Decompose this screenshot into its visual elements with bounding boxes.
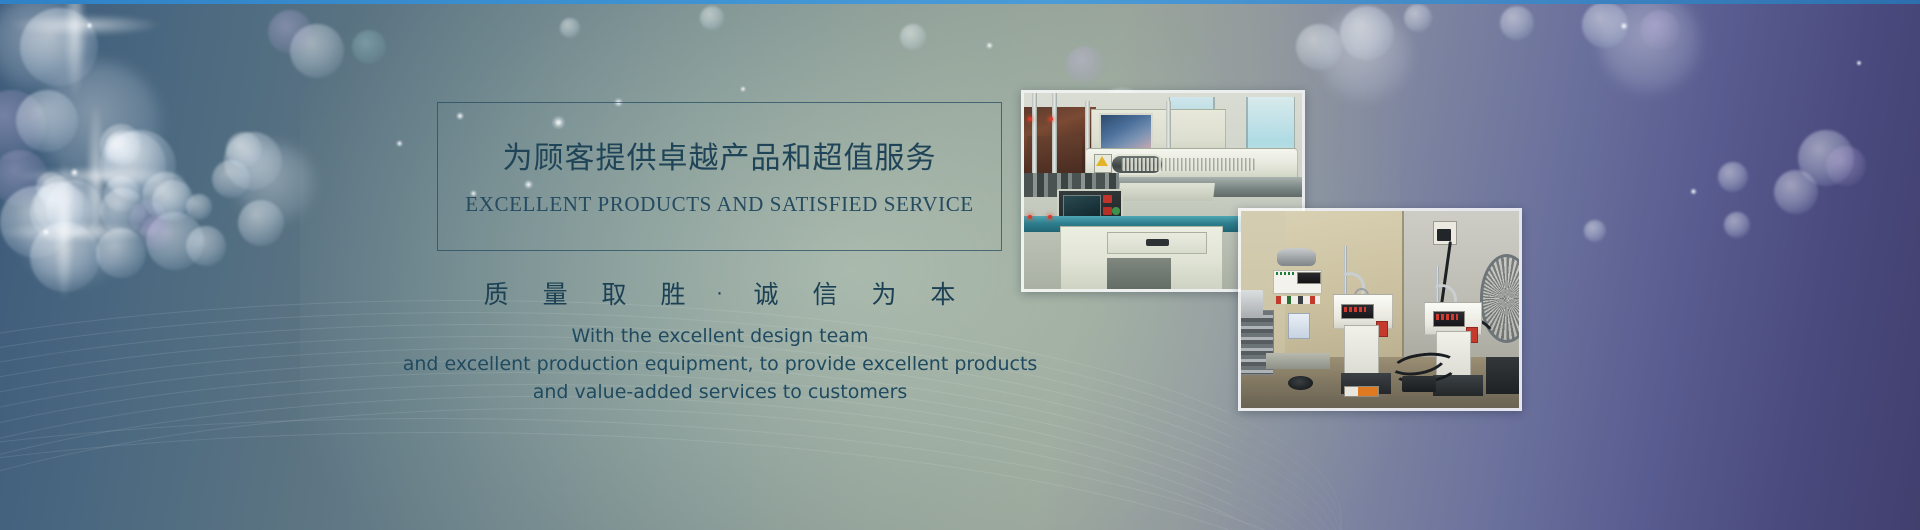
headline-english: EXCELLENT PRODUCTS AND SATISFIED SERVICE [437,192,1002,217]
riveting-machines-photo[interactable] [1238,208,1522,411]
slogan-char: 量 [543,280,568,309]
promo-banner: 为顾客提供卓越产品和超值服务 EXCELLENT PRODUCTS AND SA… [0,0,1920,530]
slogan-char: 为 [871,280,896,309]
description-line-3: and value-added services to customers [340,378,1100,406]
slogan-separator: · [716,283,722,305]
slogan-char: 信 [812,280,837,309]
description-line-1: With the excellent design team [340,322,1100,350]
slogan-char: 质 [484,280,509,309]
slogan-char: 本 [930,280,955,309]
slogan-char: 胜 [661,280,686,309]
banner-text-block: 为顾客提供卓越产品和超值服务 EXCELLENT PRODUCTS AND SA… [0,0,1920,530]
slogan-char: 诚 [753,280,778,309]
slogan-char: 取 [602,280,627,309]
slogan-chinese: 质 量 取 胜 · 诚 信 为 本 [437,275,1002,311]
description-paragraph: With the excellent design team and excel… [340,322,1100,406]
top-accent-bar [0,0,1920,4]
headline-chinese: 为顾客提供卓越产品和超值服务 [437,133,1002,177]
description-line-2: and excellent production equipment, to p… [340,350,1100,378]
